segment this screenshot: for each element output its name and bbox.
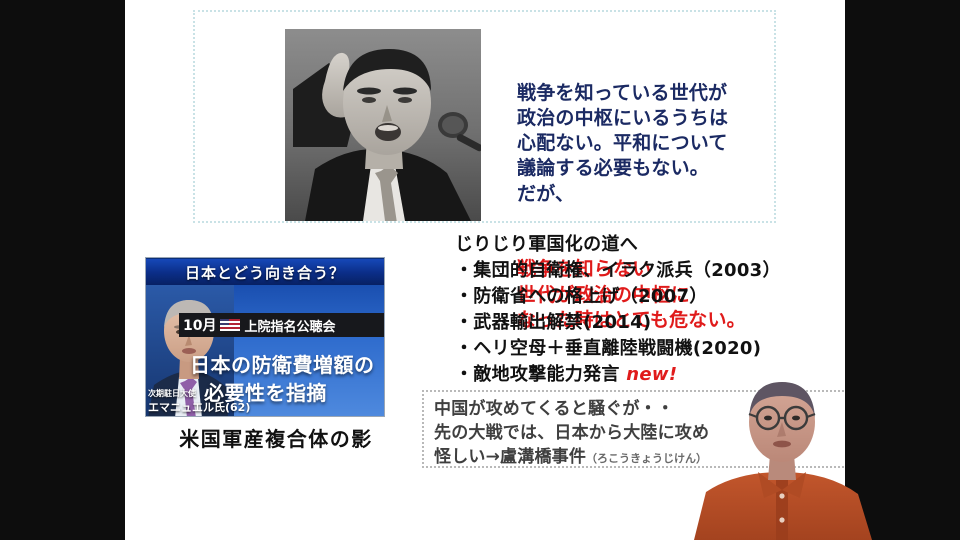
news-banner-text: 日本とどう向き合う？: [146, 262, 384, 283]
news-body: 10月 上院指名公聴会 日本の防衛費増額の 必要性を指摘 次期駐日大使 エマニュ…: [146, 285, 384, 417]
news-banner: 日本とどう向き合う？: [146, 259, 384, 285]
presenter-webcam-overlay: [692, 360, 872, 540]
news-caption: 米国軍産複合体の影: [151, 423, 401, 452]
bullet-item-1: ・集団的自衛権、イラク派兵（2003）: [455, 258, 835, 284]
quote-box: 戦争を知っている世代が 政治の中枢にいるうちは 心配ない。平和について 議論する…: [193, 10, 776, 223]
bullet-heading: じりじり軍国化の道へ: [455, 232, 835, 258]
video-frame: 戦争を知っている世代が 政治の中枢にいるうちは 心配ない。平和について 議論する…: [0, 0, 960, 540]
news-hearing-label: 上院指名公聴会: [244, 316, 335, 335]
news-headline-line1: 日本の防衛費増額の: [190, 349, 375, 378]
bullet-item-2: ・防衛省への格上げ（2007）: [455, 284, 835, 310]
ambassador-name-label: エマニュエル氏(62): [148, 399, 250, 415]
politician-photo: [285, 29, 481, 221]
news-subbar: 10月 上院指名公聴会: [179, 313, 385, 337]
us-flag-icon: [220, 319, 240, 331]
news-clip-image: 日本とどう向き合う？: [145, 257, 385, 417]
quote-navy-text: 戦争を知っている世代が 政治の中枢にいるうちは 心配ない。平和について 議論する…: [517, 81, 782, 207]
news-month-label: 10月: [183, 315, 216, 335]
bullet-item-5-text: ・敵地攻撃能力発言: [455, 364, 620, 385]
new-badge: new!: [626, 364, 677, 385]
note-furigana: （ろこうきょうじけん）: [586, 452, 707, 465]
bullet-item-4: ・ヘリ空母＋垂直離陸戦闘機(2020): [455, 336, 835, 362]
bullet-item-3: ・武器輸出解禁(2014): [455, 310, 835, 336]
note-line-3-text: 怪しい→盧溝橋事件: [434, 447, 586, 467]
ambassador-title-label: 次期駐日大使: [148, 388, 196, 399]
